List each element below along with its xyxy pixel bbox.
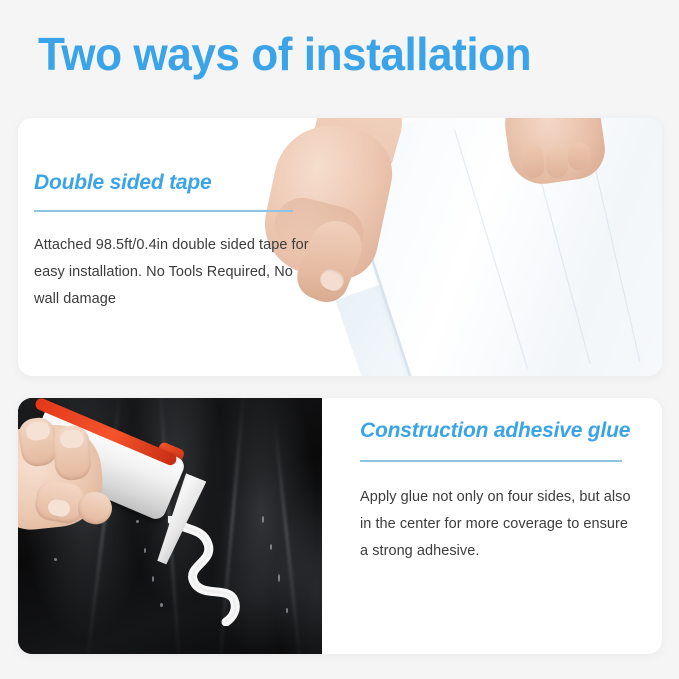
heading-underline-rule: [34, 210, 293, 212]
gripping-hand: [18, 406, 140, 546]
card-heading-double-sided-tape: Double sided tape: [34, 170, 310, 196]
panel-speckle: [152, 576, 154, 582]
panel-speckle: [54, 558, 57, 561]
panel-speckle: [160, 603, 163, 607]
card-construction-adhesive-glue: Construction adhesive glue Apply glue no…: [18, 398, 662, 654]
card-body-construction-adhesive-glue: Apply glue not only on four sides, but a…: [360, 484, 640, 565]
hand-applying-glue-dark-panel-photo: [18, 398, 322, 654]
card-text-block: Double sided tape Attached 98.5ft/0.4in …: [34, 170, 310, 313]
panel-speckle: [144, 548, 146, 553]
card-body-double-sided-tape: Attached 98.5ft/0.4in double sided tape …: [34, 232, 310, 313]
card-double-sided-tape: Double sided tape Attached 98.5ft/0.4in …: [18, 118, 662, 376]
hands-peeling-white-panel-photo: [262, 118, 662, 376]
card-heading-construction-adhesive-glue: Construction adhesive glue: [360, 418, 640, 444]
hand-finger: [545, 147, 569, 178]
hand-finger: [567, 141, 590, 170]
installation-infographic-page: Two ways of installation: [0, 0, 679, 679]
page-title: Two ways of installation: [38, 28, 531, 81]
glue-bead-squiggle: [168, 516, 298, 626]
upper-hand: [506, 118, 626, 198]
heading-underline-rule: [360, 460, 622, 462]
card-text-block: Construction adhesive glue Apply glue no…: [360, 418, 640, 565]
